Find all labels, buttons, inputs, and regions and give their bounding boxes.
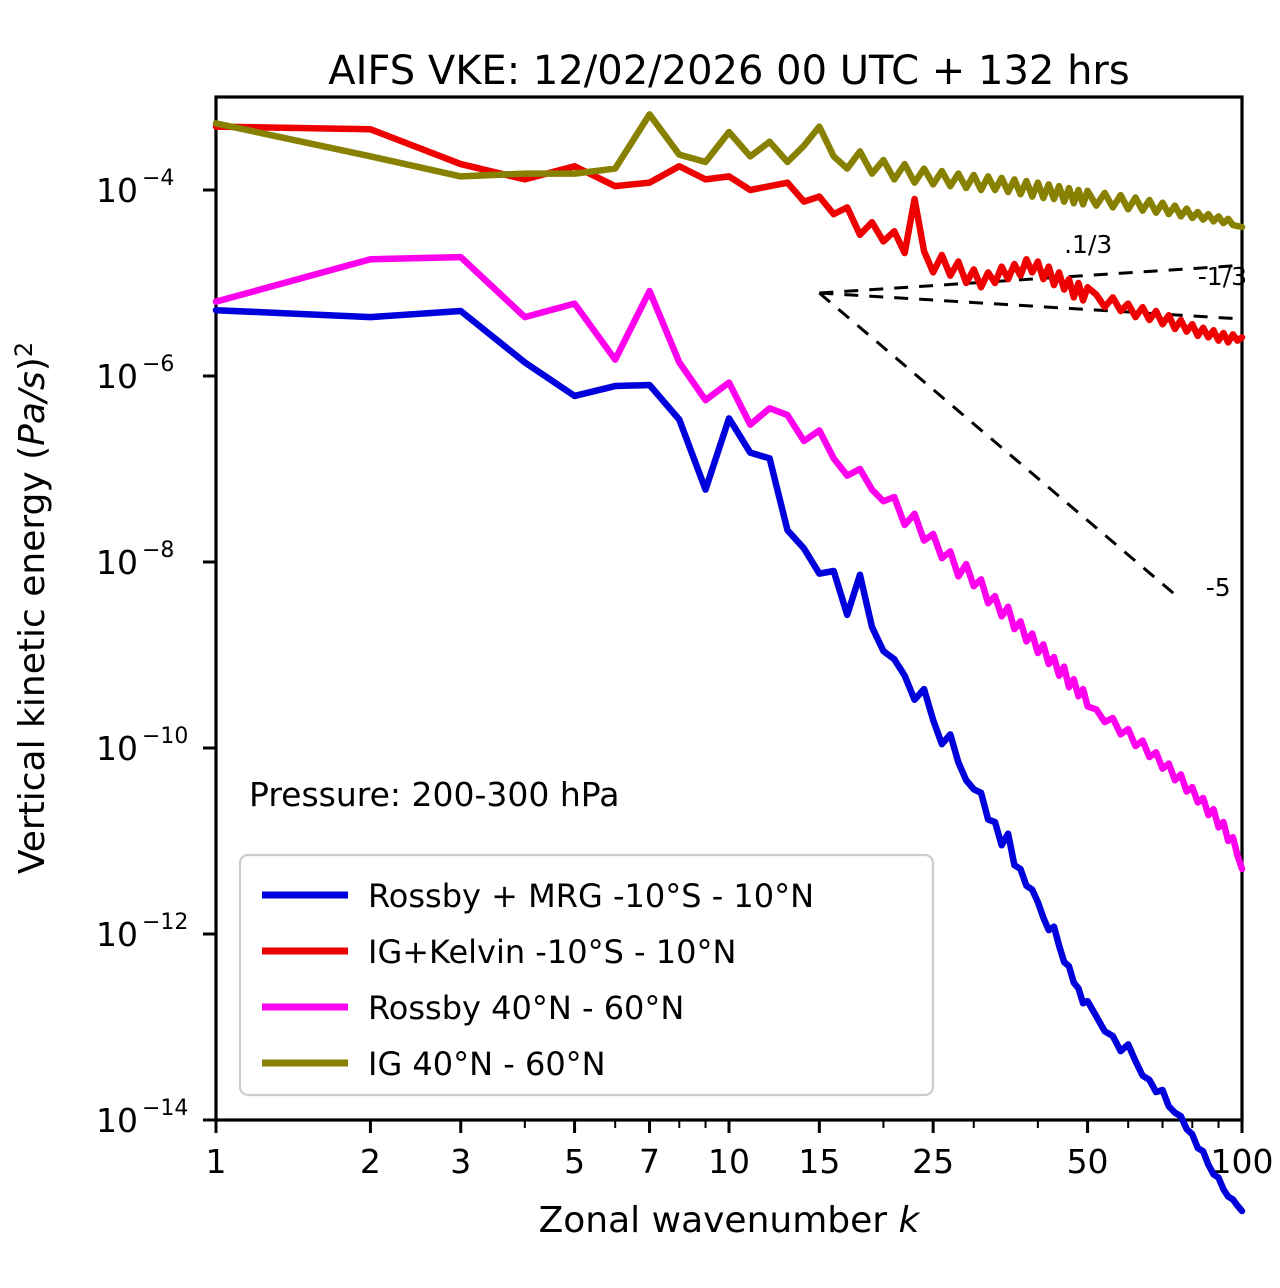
x-tick-label-5: 5 (564, 1142, 585, 1181)
slope-minus-five (819, 293, 1178, 597)
y-tick-label--14: 10−14 (96, 1096, 188, 1140)
slope-label-0: .1/3 (1064, 230, 1112, 259)
y-tick-label--4: 10−4 (96, 166, 174, 210)
y-tick-label--12: 10−12 (96, 910, 188, 954)
y-axis-ticks (203, 190, 216, 1120)
x-tick-label-15: 15 (798, 1142, 840, 1181)
legend-label-0: Rossby + MRG -10°S - 10°N (368, 877, 814, 915)
slope-label-1: -1/3 (1198, 262, 1247, 291)
x-tick-label-3: 3 (450, 1142, 471, 1181)
y-tick-exponent: −10 (142, 724, 188, 749)
x-axis-tick-labels: 1235710152550100 (206, 1142, 1274, 1181)
y-tick-label--6: 10−6 (96, 352, 174, 396)
y-tick-exponent: −4 (142, 166, 174, 191)
y-axis-title-prefix: Vertical kinetic energy ( (12, 446, 53, 874)
legend-label-3: IG 40°N - 60°N (368, 1045, 606, 1083)
y-tick-label--10: 10−10 (96, 724, 188, 768)
y-axis-title-exponent: 2 (10, 342, 38, 357)
legend-label-2: Rossby 40°N - 60°N (368, 989, 684, 1027)
vke-spectrum-figure: AIFS VKE: 12/02/2026 00 UTC + 132 hrs 12… (0, 0, 1280, 1288)
y-tick-exponent: −8 (142, 538, 174, 563)
reference-slope-lines (819, 265, 1242, 597)
slope-minus-one-third (819, 293, 1242, 319)
y-tick-exponent: −14 (142, 1096, 188, 1121)
x-tick-label-1: 1 (206, 1142, 227, 1181)
slope-annotations: .1/3-1/3-5 (1064, 230, 1247, 602)
chart-legend[interactable]: Rossby + MRG -10°S - 10°NIG+Kelvin -10°S… (240, 855, 933, 1095)
x-tick-label-50: 50 (1067, 1142, 1109, 1181)
legend-label-1: IG+Kelvin -10°S - 10°N (368, 933, 736, 971)
x-axis-title: Zonal wavenumber k (539, 1200, 922, 1241)
chart-canvas: AIFS VKE: 12/02/2026 00 UTC + 132 hrs 12… (0, 0, 1280, 1288)
x-axis-ticks (216, 1120, 1242, 1133)
y-tick-exponent: −6 (142, 352, 174, 377)
y-tick-exponent: −12 (142, 910, 188, 935)
y-tick-mantissa: 10 (96, 1101, 138, 1140)
slope-label-2: -5 (1206, 573, 1231, 602)
x-axis-title-symbol: k (899, 1200, 922, 1241)
y-tick-mantissa: 10 (96, 729, 138, 768)
y-tick-mantissa: 10 (96, 357, 138, 396)
pressure-annotation: Pressure: 200-300 hPa (249, 775, 619, 814)
y-tick-mantissa: 10 (96, 171, 138, 210)
y-axis-title-suffix: ) (12, 357, 53, 371)
x-tick-label-25: 25 (912, 1142, 954, 1181)
x-tick-label-2: 2 (360, 1142, 381, 1181)
x-tick-label-7: 7 (639, 1142, 660, 1181)
y-axis-tick-labels: 10−1410−1210−1010−810−610−4 (96, 166, 188, 1140)
chart-title: AIFS VKE: 12/02/2026 00 UTC + 132 hrs (328, 48, 1129, 94)
y-axis-title: Vertical kinetic energy (Pa/s)2 (10, 342, 53, 874)
y-axis-title-units: Pa/s (12, 371, 53, 446)
y-tick-mantissa: 10 (96, 543, 138, 582)
x-axis-title-prefix: Zonal wavenumber (539, 1200, 899, 1241)
y-tick-mantissa: 10 (96, 915, 138, 954)
x-tick-label-10: 10 (708, 1142, 750, 1181)
y-tick-label--8: 10−8 (96, 538, 174, 582)
